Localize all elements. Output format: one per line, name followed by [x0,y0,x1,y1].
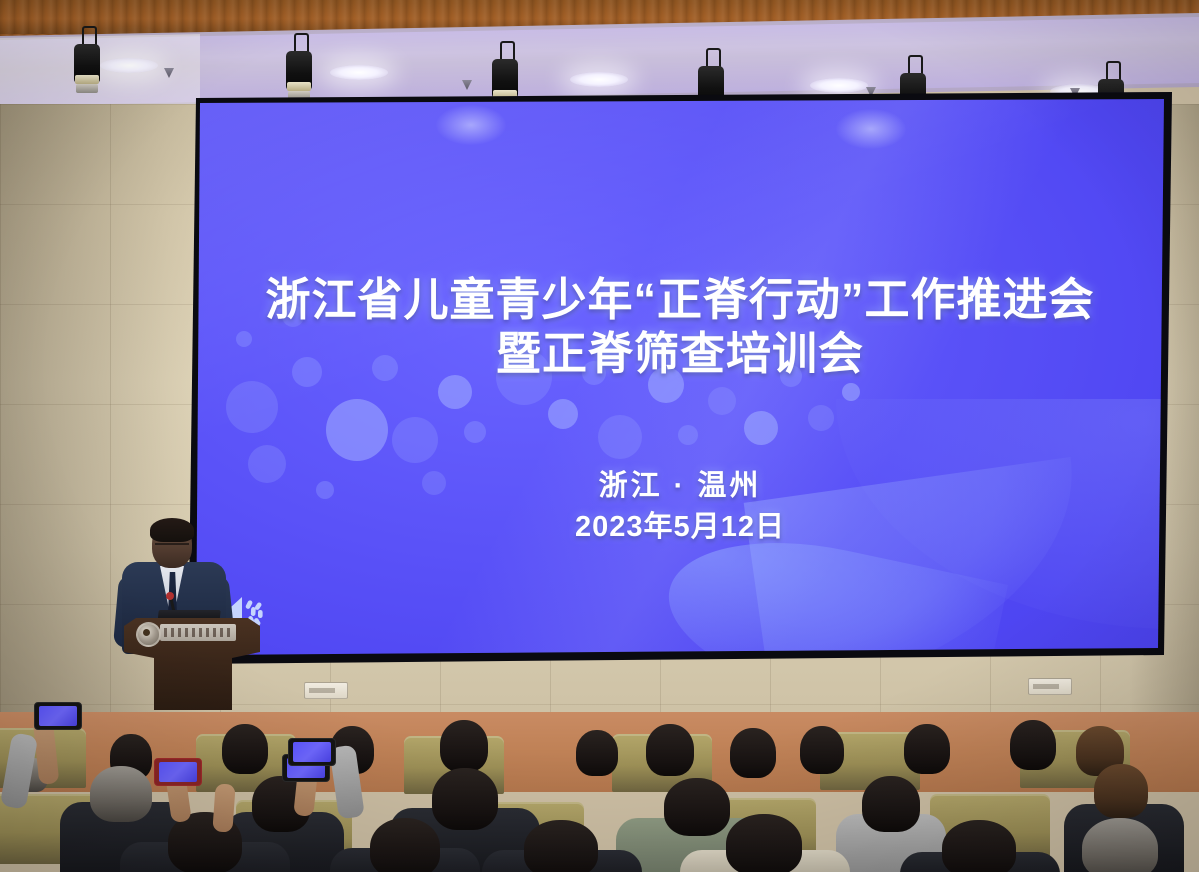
audience-head [942,820,1016,872]
audience-raised-arm [212,783,235,832]
slide-title-line-2: 暨正脊筛查培训会 [196,327,1164,380]
audience-head [726,814,802,872]
audience-head [1082,818,1158,872]
ceiling-light [570,72,628,87]
conference-hall-photo: 浙江省儿童青少年“正脊行动”工作推进会 暨正脊筛查培训会 浙江 · 温州 202… [0,0,1199,872]
slide-location: 浙江 · 温州 [196,462,1164,504]
slide-title-line-1: 浙江省儿童青少年“正脊行动”工作推进会 [196,273,1164,326]
audience-head [524,820,598,872]
audience-head [730,728,776,778]
audience-head [90,766,152,822]
audience-area [0,700,1199,872]
audience-head [576,730,618,776]
stage-spotlight [74,42,100,98]
audience-head [432,768,498,830]
audience-head [370,818,440,872]
podium-emblem-seal [136,622,161,647]
audience-phone [288,738,336,766]
audience-phone [34,702,82,730]
audience-head [440,720,488,772]
stage-spotlight [286,49,312,105]
presenter-at-podium [108,510,298,710]
ceiling-light [330,65,388,80]
audience-head [862,776,920,832]
ceiling-light [810,78,868,93]
presentation-screen[interactable]: 浙江省儿童青少年“正脊行动”工作推进会 暨正脊筛查培训会 浙江 · 温州 202… [196,99,1164,655]
audience-head [1094,764,1148,818]
podium-nameplate [160,624,236,641]
audience-head [646,724,694,776]
wall-outlet-panel [1028,678,1072,695]
presenter-glasses-icon [155,543,189,553]
presenter-hair [150,518,194,542]
audience-head [800,726,844,774]
slide-date: 2023年5月12日 [196,503,1164,545]
audience-head [664,778,730,836]
audience-head [904,724,950,774]
slide-text-block: 浙江省儿童青少年“正脊行动”工作推进会 暨正脊筛查培训会 浙江 · 温州 202… [196,99,1164,655]
audience-phone [154,758,202,786]
ceiling-light [100,58,158,73]
audience-head [222,724,268,774]
audience-head [1010,720,1056,770]
microphone-icon [166,592,174,600]
